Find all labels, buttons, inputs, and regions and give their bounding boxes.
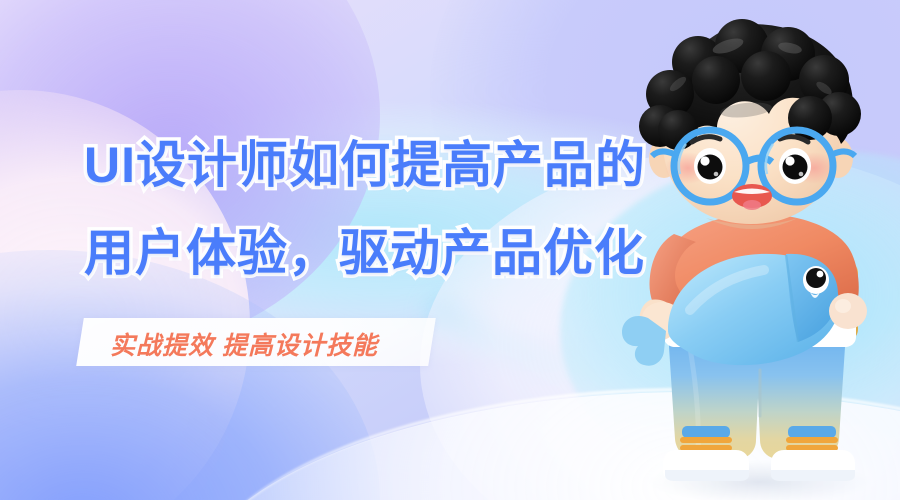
promo-banner: UI设计师如何提高产品的 用户体验，驱动产品优化 实战提效 提高设计技能 (0, 0, 900, 500)
subtitle-text: 实战提效 提高设计技能 (110, 326, 378, 362)
background-blue-glow (0, 250, 380, 500)
headline-line-1: UI设计师如何提高产品的 (84, 140, 684, 190)
left-eye (694, 148, 726, 184)
right-eye (779, 148, 811, 184)
headline-block: UI设计师如何提高产品的 用户体验，驱动产品优化 (84, 140, 684, 278)
headline-line-2: 用户体验，驱动产品优化 (84, 228, 684, 278)
